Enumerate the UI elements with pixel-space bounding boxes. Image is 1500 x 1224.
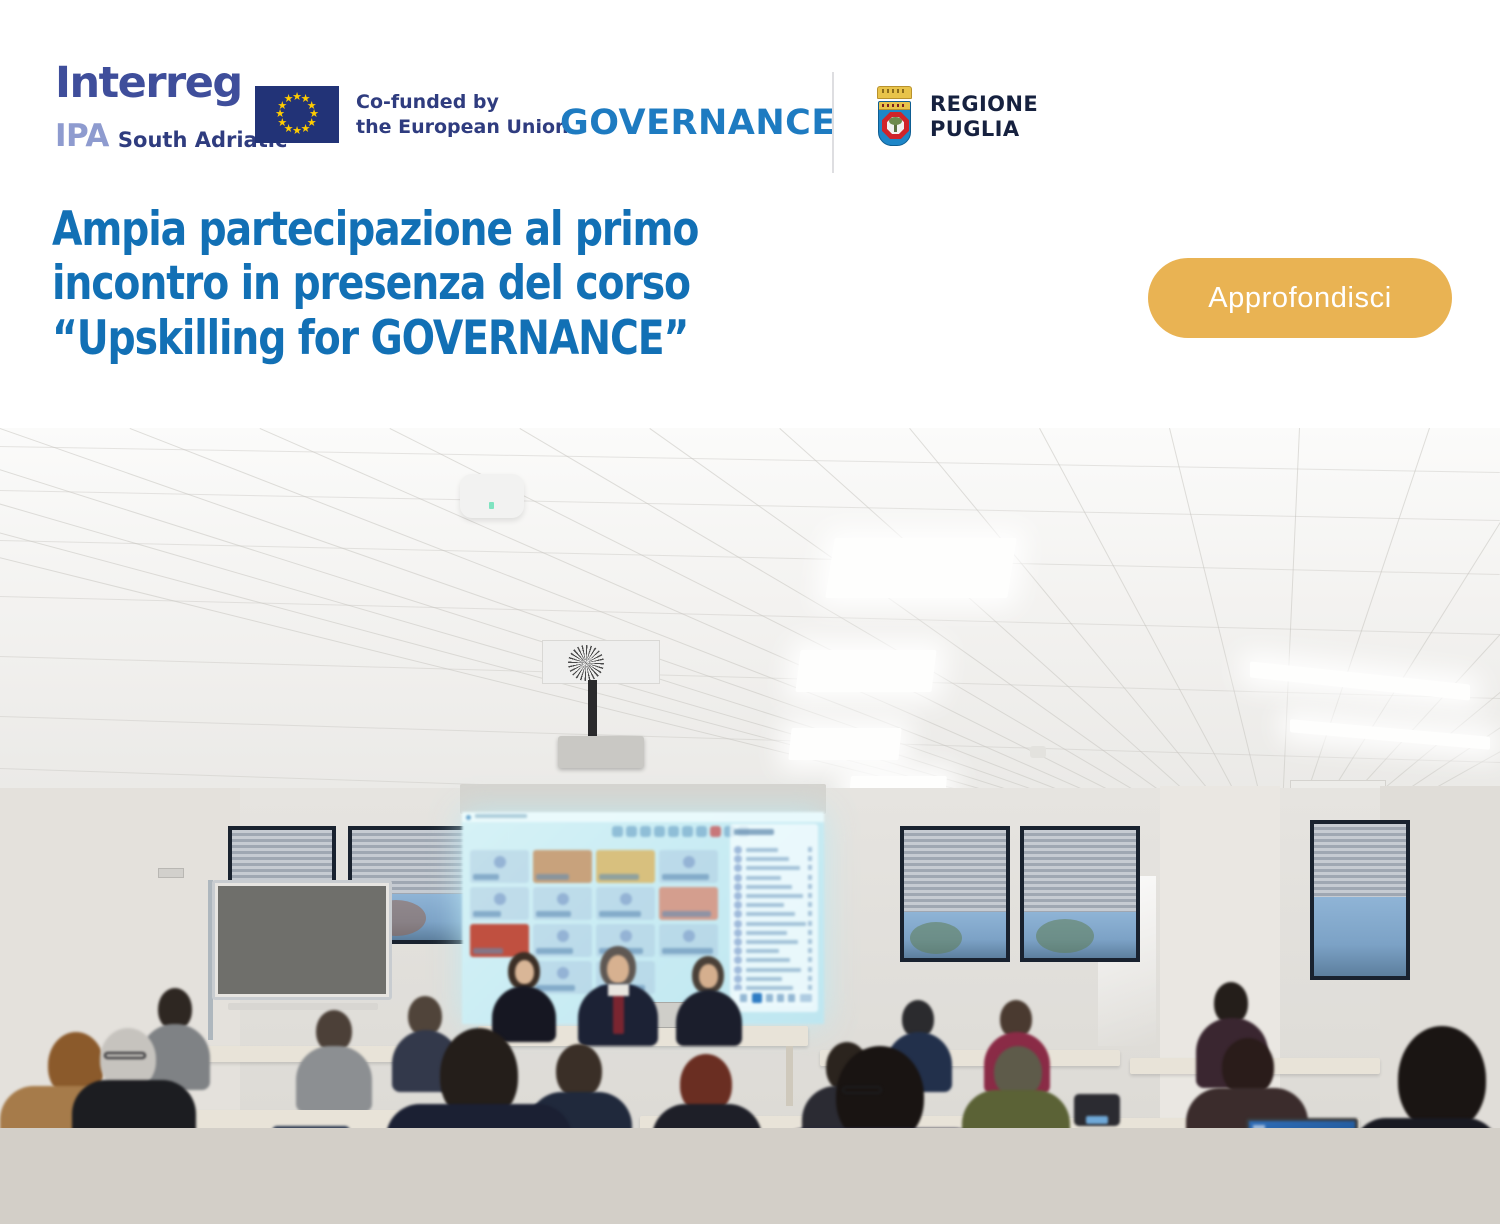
participant-list-item [734, 910, 814, 918]
table-leg [786, 1046, 793, 1106]
octagon-inner [887, 117, 904, 134]
participant-mic-icon [808, 930, 812, 935]
participant-mic-icon [808, 884, 812, 889]
speaker-face [699, 964, 718, 988]
ceiling-tile-line [0, 428, 1178, 841]
participant-name-label [599, 911, 641, 917]
participant-list-item [734, 883, 814, 891]
window-glass [1314, 897, 1406, 976]
participant-name-label [746, 866, 800, 870]
participant-avatar [734, 874, 742, 882]
participant-avatar [734, 947, 742, 955]
app-icon [466, 815, 471, 820]
participant-avatar [734, 920, 742, 928]
ceiling-tile-line [0, 596, 1500, 635]
event-photo [0, 428, 1500, 1224]
participant-name-label [746, 894, 803, 898]
participant-avatar [683, 930, 695, 942]
participant-name-label [536, 911, 571, 917]
conference-toolbar-icon [668, 826, 679, 837]
participants-panel-title [734, 829, 774, 835]
whiteboard-surface [218, 886, 386, 994]
participant-name-label [746, 931, 787, 935]
participant-mic-icon [808, 976, 812, 981]
participant-video-tile [659, 924, 718, 957]
participant-name-label [473, 911, 501, 917]
participant-mic-icon [808, 865, 812, 870]
ceiling-tile-line [1039, 428, 1261, 840]
ceiling-tile-line [0, 490, 1500, 521]
puglia-label: PUGLIA [930, 117, 1020, 141]
participant-video-tile [470, 850, 529, 883]
participant-name-label [746, 977, 782, 981]
participants-list [734, 846, 814, 996]
participant-mic-icon [808, 847, 812, 852]
conference-toolbar-icon [612, 826, 623, 837]
approfondisci-button[interactable]: Approfondisci [1148, 258, 1452, 338]
participant-avatar [494, 856, 506, 868]
ceiling-light [795, 650, 936, 692]
air-vent [542, 640, 660, 684]
logo-divider [832, 72, 834, 173]
whiteboard [212, 880, 392, 1000]
control-button [740, 994, 747, 1002]
ceiling-tile-line [0, 428, 1136, 841]
participant-list-item [734, 947, 814, 955]
participant-list-item [734, 874, 814, 882]
eyeglasses [842, 1086, 882, 1094]
whiteboard-tray [228, 1003, 378, 1010]
participant-list-item [734, 901, 814, 909]
ceiling-light [788, 728, 901, 760]
participant-avatar [734, 901, 742, 909]
eu-cofunding-line1: Co-funded by [356, 91, 499, 113]
participant-avatar [734, 846, 742, 854]
control-button [788, 994, 795, 1002]
window [900, 826, 1010, 962]
control-button [777, 994, 784, 1002]
page-title: Ampia partecipazione al primo incontro i… [52, 203, 815, 366]
regione-puglia-logo: REGIONE PUGLIA [872, 86, 1038, 148]
participant-mic-icon [808, 893, 812, 898]
participant-list-item [734, 920, 814, 928]
participant-name-label [746, 958, 790, 962]
window-blind [1314, 824, 1406, 897]
regione-puglia-text: REGIONE PUGLIA [930, 92, 1038, 142]
conference-toolbar-icon [640, 826, 651, 837]
ceiling-tile-line [0, 716, 1500, 763]
conference-toolbar-icon [710, 826, 721, 837]
participant-avatar [734, 966, 742, 974]
participant-name-label [746, 949, 779, 953]
app-title-placeholder [475, 814, 527, 818]
participant-mic-icon [808, 948, 812, 953]
eu-cofunding-line2: the European Union [356, 116, 569, 138]
participant-mic-icon [808, 957, 812, 962]
eyeglasses [104, 1052, 146, 1059]
attendee-head [1398, 1026, 1486, 1132]
participant-list-item [734, 975, 814, 983]
ceiling-tile-line [260, 428, 1199, 841]
ipa-south-adriatic-row: IPA South Adriatic [55, 121, 287, 152]
octagon-shape [882, 112, 909, 139]
regione-puglia-emblem-icon [872, 86, 917, 148]
wall-switch [158, 868, 184, 878]
participant-list-item [734, 938, 814, 946]
ceiling-tile-line [1169, 428, 1271, 840]
participant-name-label [746, 922, 806, 926]
participant-list-item [734, 956, 814, 964]
participant-name-label [746, 940, 798, 944]
participant-name-label [746, 903, 784, 907]
control-button-active [752, 993, 762, 1003]
wifi-access-point-icon [460, 474, 524, 518]
paper-cup [1086, 1116, 1108, 1124]
control-button [800, 994, 812, 1002]
ceiling-tile-line [1281, 428, 1300, 840]
participant-mic-icon [808, 911, 812, 916]
ceiling-tile-line [0, 446, 1500, 473]
participant-mic-icon [808, 856, 812, 861]
participant-list-item [734, 864, 814, 872]
shield-chief [879, 102, 910, 110]
participant-avatar [734, 910, 742, 918]
floor [0, 1128, 1500, 1224]
participant-name-label [473, 874, 499, 880]
participant-name-label [536, 985, 575, 991]
conference-toolbar-icon [626, 826, 637, 837]
speaker-face [607, 955, 629, 983]
window-blind [904, 830, 1006, 912]
participant-mic-icon [808, 939, 812, 944]
wifi-status-led [489, 502, 494, 509]
speaker-face [515, 960, 534, 984]
ipa-wordmark: IPA [55, 121, 109, 152]
logo-bar: Interreg IPA South Adriatic ★★★★★★★★★★★★… [0, 30, 1500, 170]
participant-video-tile [659, 887, 718, 920]
participant-avatar [734, 956, 742, 964]
participant-avatar [620, 930, 632, 942]
conference-toolbar-icon [682, 826, 693, 837]
participant-mic-icon [808, 967, 812, 972]
crown-icon [877, 86, 912, 99]
participant-video-tile [533, 924, 592, 957]
participant-avatar [683, 856, 695, 868]
eu-star-icon: ★ [283, 94, 294, 105]
window-blind [1024, 830, 1136, 912]
ceiling-tile-line [909, 428, 1250, 840]
participant-name-label [599, 874, 639, 880]
participant-video-tile [533, 887, 592, 920]
ceiling-tile-line [1291, 428, 1430, 840]
window [1310, 820, 1410, 980]
participant-avatar [734, 975, 742, 983]
attendee-body [296, 1046, 372, 1112]
attendee-head [556, 1044, 602, 1098]
participant-name-label [746, 857, 789, 861]
conference-toolbar-icon [696, 826, 707, 837]
participant-avatar [734, 892, 742, 900]
eu-flag-icon: ★★★★★★★★★★★★ [255, 86, 339, 143]
governance-project-wordmark: GOVERNANCE [560, 103, 836, 143]
participant-avatar [734, 855, 742, 863]
participant-mic-icon [808, 902, 812, 907]
participant-avatar [494, 893, 506, 905]
participant-avatar [620, 893, 632, 905]
page-header: Interreg IPA South Adriatic ★★★★★★★★★★★★… [0, 0, 1500, 428]
eu-cofunding-logo: ★★★★★★★★★★★★ Co-funded by the European U… [255, 86, 569, 143]
projector-mount [588, 680, 597, 738]
ceiling-tile-line [779, 428, 1240, 840]
projection-screen-housing [460, 784, 826, 814]
conference-controls-bar [734, 990, 814, 1006]
participant-list-item [734, 892, 814, 900]
interreg-logo: Interreg IPA South Adriatic [55, 62, 287, 152]
olive-tree-icon [894, 119, 897, 132]
speaker-body [492, 986, 556, 1042]
participant-video-tile [596, 850, 655, 883]
participant-list-item [734, 966, 814, 974]
interreg-wordmark: Interreg [55, 62, 287, 105]
regione-label: REGIONE [930, 92, 1038, 116]
ceiling-projector [558, 736, 644, 768]
participant-avatar [734, 883, 742, 891]
participant-name-label [746, 968, 801, 972]
participant-video-tile [596, 887, 655, 920]
participant-list-item [734, 855, 814, 863]
participant-avatar [557, 893, 569, 905]
participants-panel [730, 824, 818, 1012]
vent-fan-icon [568, 645, 604, 681]
participant-mic-icon [808, 921, 812, 926]
participant-name-label [746, 876, 781, 880]
participant-video-tile [659, 850, 718, 883]
participant-name-label [536, 948, 573, 954]
foliage [910, 922, 962, 954]
participant-name-label [746, 885, 792, 889]
participant-video-tile [533, 961, 592, 994]
conference-toolbar-icon [654, 826, 665, 837]
shield-icon [878, 101, 911, 146]
participant-name-label [746, 912, 795, 916]
participant-avatar [557, 967, 569, 979]
participant-avatar [557, 930, 569, 942]
participant-video-tile [470, 887, 529, 920]
participant-avatar [734, 929, 742, 937]
participant-name-label [746, 848, 778, 852]
participant-video-tile [533, 850, 592, 883]
participant-mic-icon [808, 875, 812, 880]
ceiling-light [825, 538, 1017, 598]
participant-name-label [662, 948, 713, 954]
participant-avatar [734, 864, 742, 872]
participant-name-label [662, 911, 711, 917]
participant-name-label [536, 874, 569, 880]
eu-cofunding-text: Co-funded by the European Union [356, 90, 569, 139]
dress-shirt [608, 984, 629, 996]
sprinkler-head [1030, 746, 1046, 758]
ceiling-tile-grid [0, 428, 1500, 828]
participant-name-label [473, 948, 503, 954]
foliage [1036, 919, 1094, 953]
window [1020, 826, 1140, 962]
participant-list-item [734, 929, 814, 937]
participant-list-item [734, 846, 814, 854]
control-button [766, 994, 773, 1002]
participant-name-label [662, 874, 709, 880]
participant-avatar [734, 938, 742, 946]
